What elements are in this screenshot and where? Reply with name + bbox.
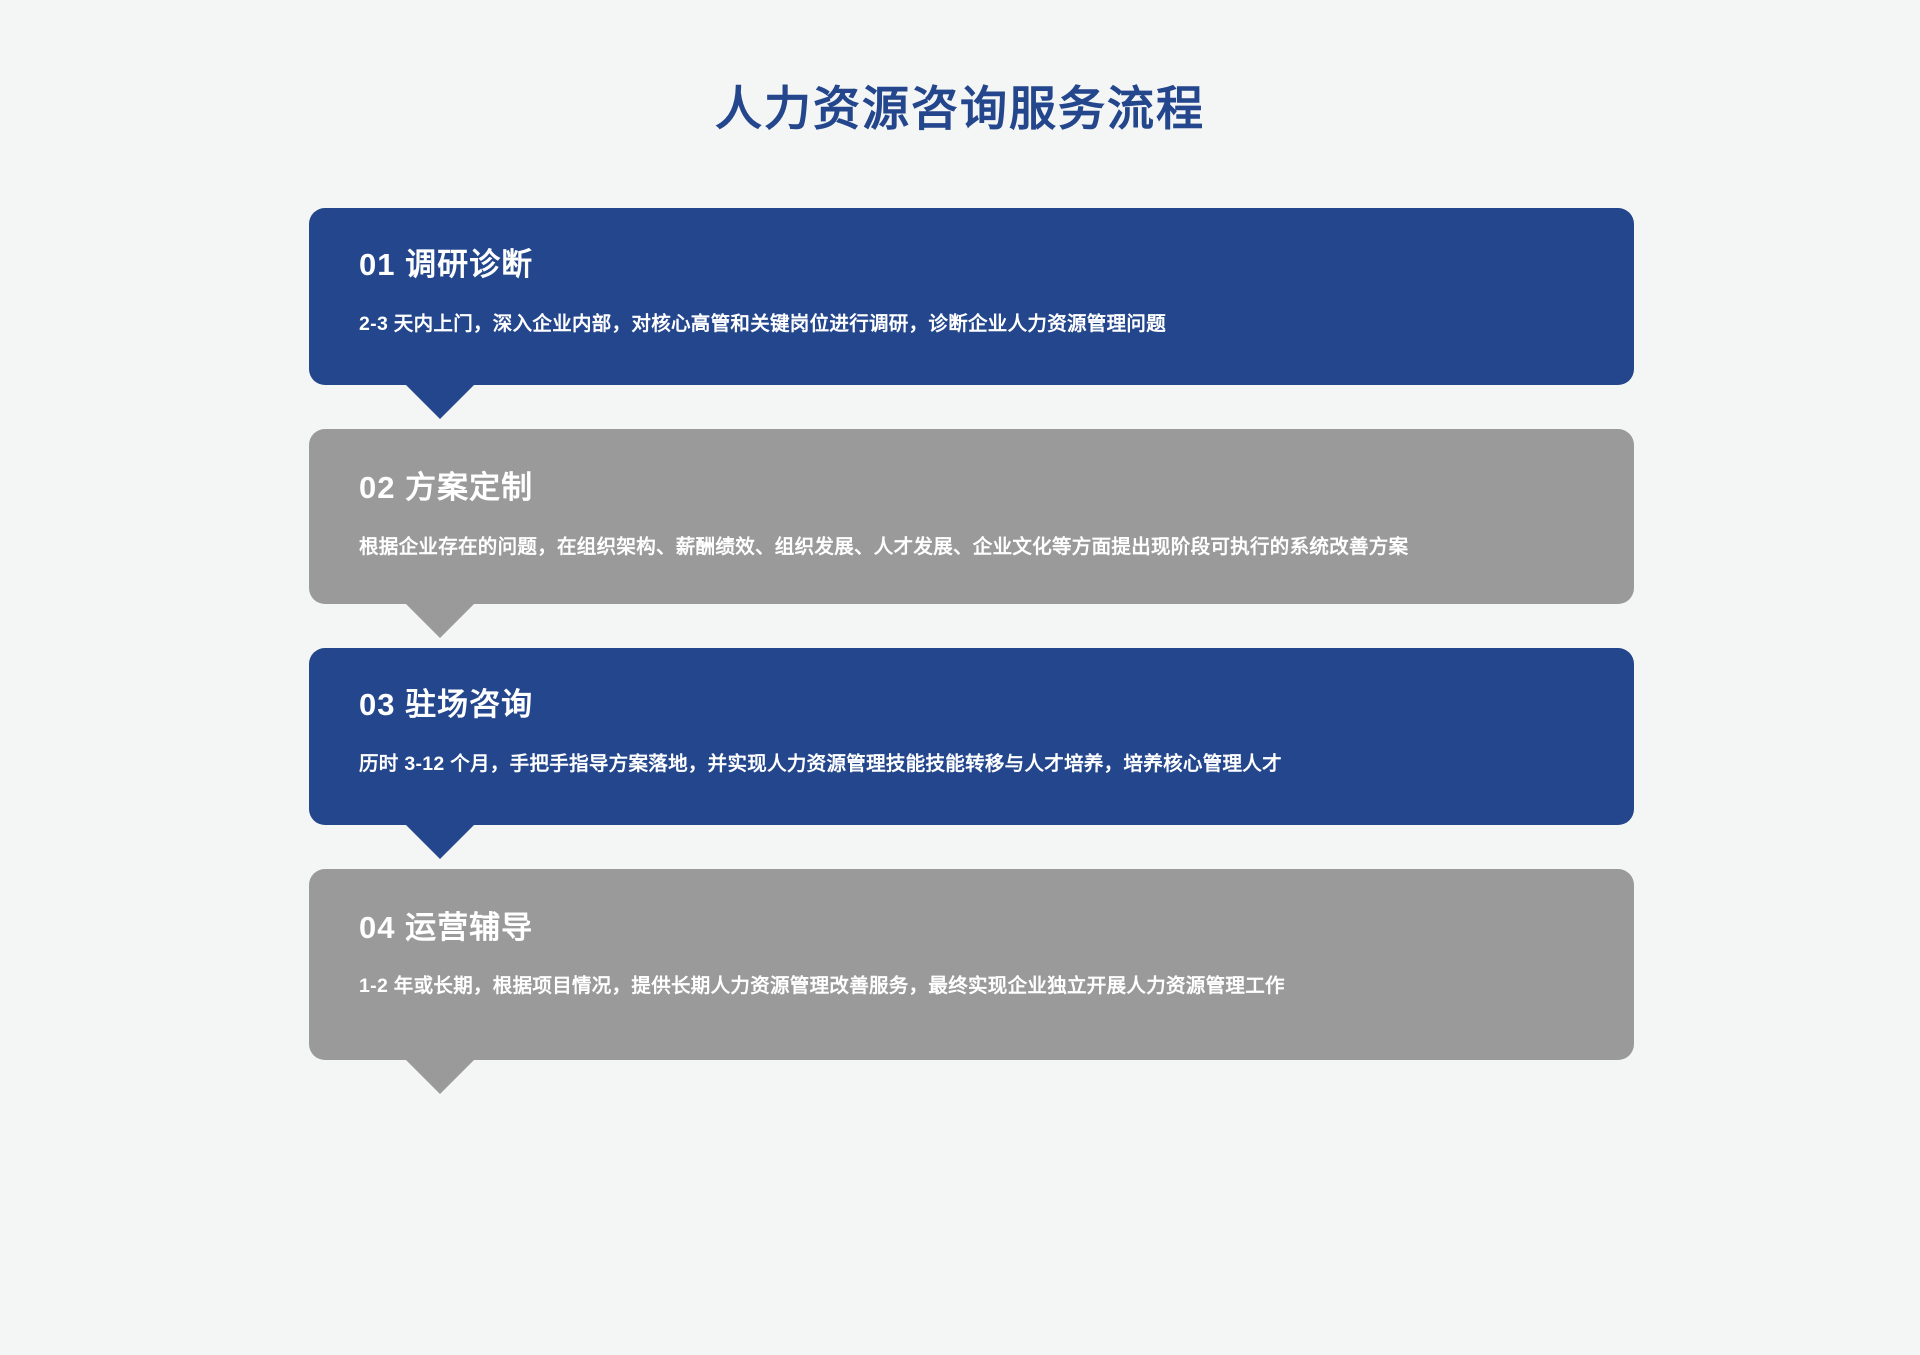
flow-step-01-description: 2-3 天内上门，深入企业内部，对核心高管和关键岗位进行调研，诊断企业人力资源管…	[359, 307, 1544, 341]
flow-step-04[interactable]: 04 运营辅导 1-2 年或长期，根据项目情况，提供长期人力资源管理改善服务，最…	[309, 869, 1634, 1060]
flow-step-02-description: 根据企业存在的问题，在组织架构、薪酬绩效、组织发展、人才发展、企业文化等方面提出…	[359, 530, 1544, 564]
process-flow-list: 01 调研诊断 2-3 天内上门，深入企业内部，对核心高管和关键岗位进行调研，诊…	[309, 208, 1634, 1060]
arrow-down-icon	[405, 384, 475, 419]
infographic-canvas: 人力资源咨询服务流程 01 调研诊断 2-3 天内上门，深入企业内部，对核心高管…	[0, 0, 1920, 1355]
flow-step-03-heading: 03 驻场咨询	[359, 686, 1590, 725]
flow-step-01[interactable]: 01 调研诊断 2-3 天内上门，深入企业内部，对核心高管和关键岗位进行调研，诊…	[309, 208, 1634, 385]
flow-step-03-description: 历时 3-12 个月，手把手指导方案落地，并实现人力资源管理技能技能转移与人才培…	[359, 747, 1544, 781]
arrow-down-icon	[405, 1059, 475, 1094]
flow-step-02-heading: 02 方案定制	[359, 469, 1590, 508]
page-title: 人力资源咨询服务流程	[0, 78, 1920, 139]
flow-step-03[interactable]: 03 驻场咨询 历时 3-12 个月，手把手指导方案落地，并实现人力资源管理技能…	[309, 648, 1634, 825]
flow-step-01-heading: 01 调研诊断	[359, 246, 1590, 285]
flow-step-04-description: 1-2 年或长期，根据项目情况，提供长期人力资源管理改善服务，最终实现企业独立开…	[359, 969, 1544, 1003]
arrow-down-icon	[405, 824, 475, 859]
flow-step-04-heading: 04 运营辅导	[359, 909, 1590, 948]
flow-step-02[interactable]: 02 方案定制 根据企业存在的问题，在组织架构、薪酬绩效、组织发展、人才发展、企…	[309, 429, 1634, 604]
arrow-down-icon	[405, 603, 475, 638]
